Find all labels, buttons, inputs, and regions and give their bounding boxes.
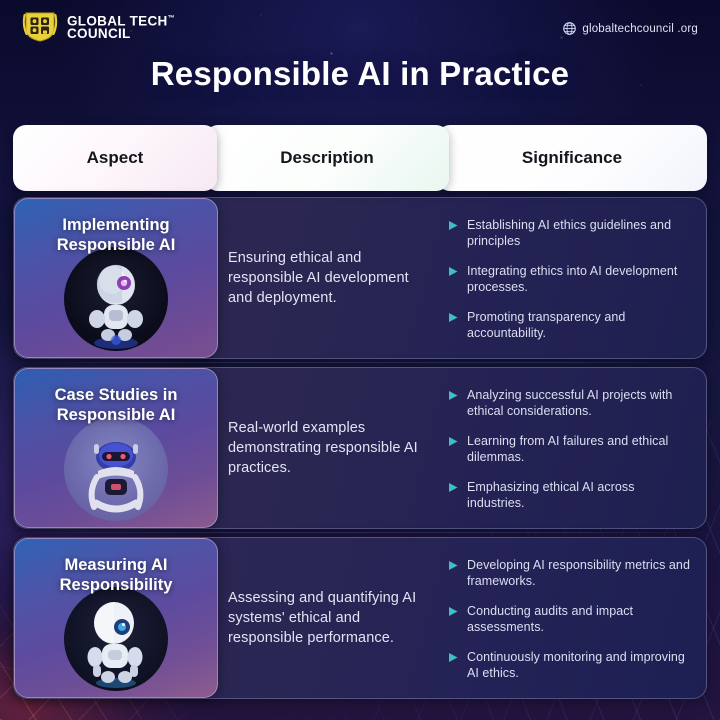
robot-illustration-icon [64,247,168,351]
description-text: Assessing and quantifying AI systems' et… [228,588,434,648]
list-item-text: Promoting transparency and accountabilit… [467,309,692,342]
list-item: Promoting transparency and accountabilit… [448,309,692,342]
robot-avatar-icon [64,417,168,521]
table-row: Case Studies in Responsible AI [13,367,707,529]
list-item: Learning from AI failures and ethical di… [448,433,692,466]
aspect-card[interactable]: Implementing Responsible AI [14,198,218,358]
list-item-text: Analyzing successful AI projects with et… [467,387,692,420]
list-item: Conducting audits and impact assessments… [448,603,692,636]
list-item-text: Developing AI responsibility metrics and… [467,557,692,590]
description-cell: Real-world examples demonstrating respon… [206,368,450,528]
description-text: Ensuring ethical and responsible AI deve… [228,248,434,308]
list-item-text: Emphasizing ethical AI across industries… [467,479,692,512]
table-row: Measuring AI Responsibility [13,537,707,699]
robot-avatar-icon [64,247,168,351]
table-body: Implementing Responsible AI [13,197,707,699]
page-title: Responsible AI in Practice [0,55,720,93]
list-item-text: Conducting audits and impact assessments… [467,603,692,636]
list-item: Continuously monitoring and improving AI… [448,649,692,682]
description-cell: Assessing and quantifying AI systems' et… [206,538,450,698]
aspect-title: Implementing Responsible AI [25,215,207,255]
list-item-text: Integrating ethics into AI development p… [467,263,692,296]
list-item-text: Continuously monitoring and improving AI… [467,649,692,682]
brand-trademark: ™ [168,15,175,22]
site-url[interactable]: globaltechcouncil .org [563,22,698,35]
site-url-text: globaltechcouncil .org [582,23,698,35]
list-item: Developing AI responsibility metrics and… [448,557,692,590]
aspect-title: Case Studies in Responsible AI [25,385,207,425]
robot-avatar-icon [64,587,168,691]
robot-illustration-icon [64,417,168,521]
comparison-table: Aspect Description Significance Implemen… [13,125,707,699]
shield-grid-logo-icon [22,9,58,43]
globe-icon [563,22,576,35]
table-row: Implementing Responsible AI [13,197,707,359]
aspect-title: Measuring AI Responsibility [25,555,207,595]
list-item-text: Learning from AI failures and ethical di… [467,433,692,466]
robot-illustration-icon [64,587,168,691]
column-header-aspect: Aspect [13,125,217,191]
list-item: Establishing AI ethics guidelines and pr… [448,217,692,250]
significance-cell: Establishing AI ethics guidelines and pr… [440,198,706,358]
brand-logo[interactable]: GLOBAL TECH™ COUNCIL [22,9,175,43]
aspect-card[interactable]: Case Studies in Responsible AI [14,368,218,528]
table-header-row: Aspect Description Significance [13,125,707,191]
brand-line-2: COUNCIL [67,26,131,41]
list-item-text: Establishing AI ethics guidelines and pr… [467,217,692,250]
list-item: Analyzing successful AI projects with et… [448,387,692,420]
list-item: Integrating ethics into AI development p… [448,263,692,296]
list-item: Emphasizing ethical AI across industries… [448,479,692,512]
row-separator [14,362,706,363]
significance-cell: Analyzing successful AI projects with et… [440,368,706,528]
brand-wordmark: GLOBAL TECH™ COUNCIL [67,12,175,41]
column-header-description: Description [205,125,449,191]
top-bar: GLOBAL TECH™ COUNCIL globaltechcouncil .… [0,0,720,56]
aspect-card[interactable]: Measuring AI Responsibility [14,538,218,698]
description-cell: Ensuring ethical and responsible AI deve… [206,198,450,358]
row-separator [14,532,706,533]
description-text: Real-world examples demonstrating respon… [228,418,434,478]
significance-cell: Developing AI responsibility metrics and… [440,538,706,698]
column-header-significance: Significance [437,125,707,191]
